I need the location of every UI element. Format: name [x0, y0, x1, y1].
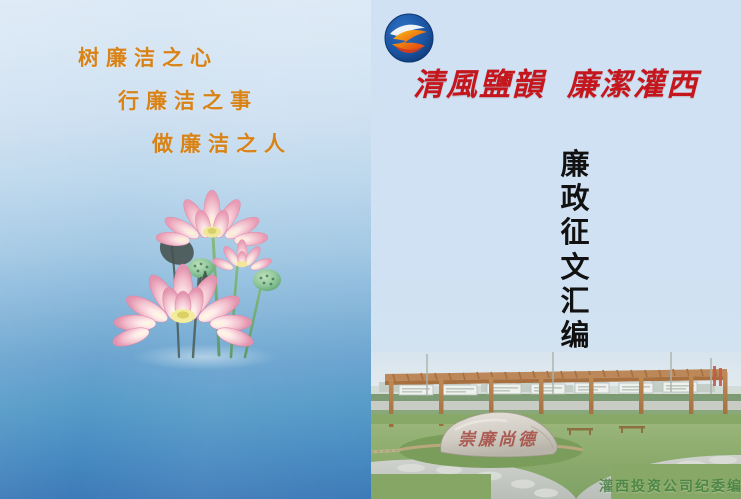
publisher-credit: 灌西投资公司纪委编 — [599, 476, 741, 496]
vertical-char-6: 编 — [553, 319, 597, 353]
front-cover-panel: 清風鹽韻廉潔灌西 廉 政 征 文 汇 编 — [371, 0, 741, 499]
vertical-subtitle: 廉 政 征 文 汇 编 — [553, 148, 597, 353]
slogan-line-3: 做廉洁之人 — [152, 134, 371, 155]
book-cover-spread: 树廉洁之心 行廉洁之事 做廉洁之人 — [0, 0, 741, 499]
cover-title: 清風鹽韻廉潔灌西 — [371, 66, 741, 105]
cover-title-part-two: 廉潔灌西 — [567, 67, 699, 103]
slogan-line-2: 行廉洁之事 — [118, 91, 371, 112]
cover-title-part-one: 清風鹽韻 — [413, 67, 545, 103]
vertical-char-2: 政 — [553, 182, 597, 216]
stone-inscription-text: 崇廉尚德 — [458, 430, 538, 450]
vertical-char-4: 文 — [553, 251, 597, 285]
slogan-block: 树廉洁之心 行廉洁之事 做廉洁之人 — [0, 48, 371, 155]
company-logo-icon — [383, 12, 435, 64]
vertical-char-5: 汇 — [553, 285, 597, 319]
integrity-park-photo: 崇廉尚德 灌西投资公司纪委编 — [371, 352, 741, 499]
lotus-illustration — [105, 185, 305, 370]
back-cover-panel: 树廉洁之心 行廉洁之事 做廉洁之人 — [0, 0, 371, 499]
vertical-char-3: 征 — [553, 216, 597, 250]
vertical-char-1: 廉 — [553, 148, 597, 182]
slogan-line-1: 树廉洁之心 — [78, 48, 371, 69]
